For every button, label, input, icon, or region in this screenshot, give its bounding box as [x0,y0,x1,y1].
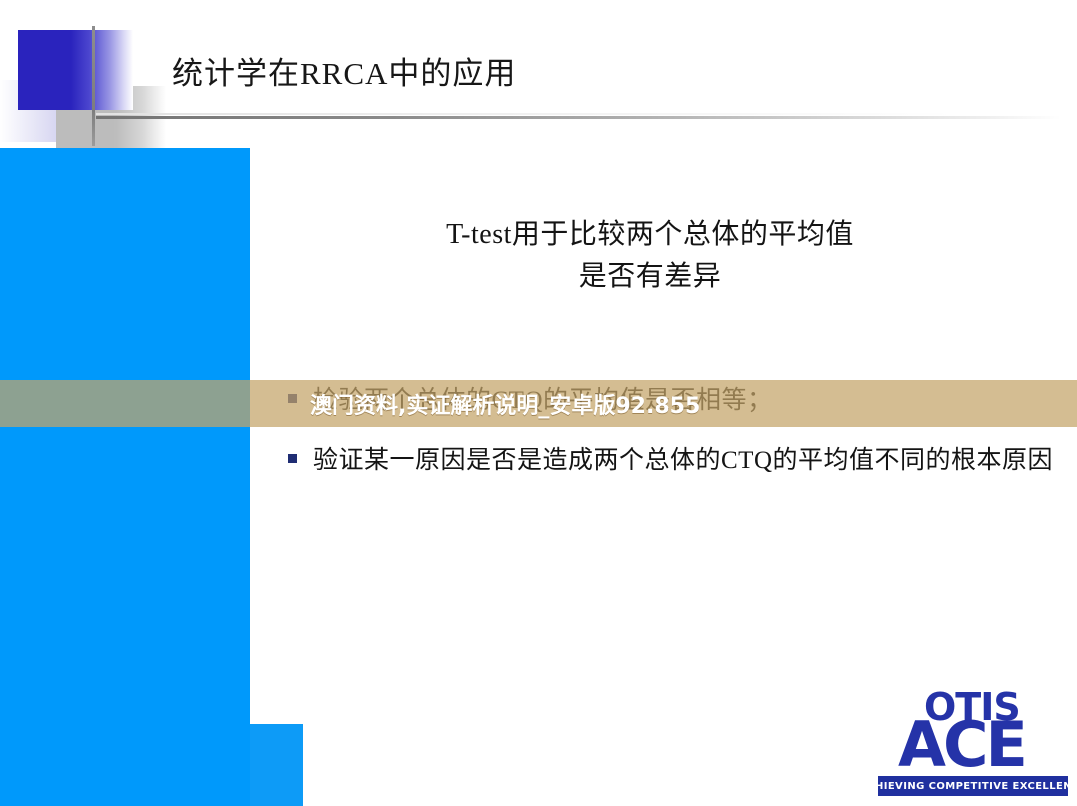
title-underline-soft [96,113,956,115]
sidebar-blue-panel-footer [250,724,303,806]
logo-ace-wordmark: ACE [898,714,1025,776]
decoration-blue-block [18,30,133,110]
lead-statement-line-2: 是否有差异 [300,256,1000,298]
decoration-lavender-block [0,80,98,142]
title-underline [96,116,1061,119]
list-item: 验证某一原因是否是造成两个总体的CTQ的平均值不同的根本原因 [288,438,1068,484]
slide-canvas: 统计学在RRCA中的应用 T-test用于比较两个总体的平均值 是否有差异 检验… [0,0,1077,806]
title-decoration-graphic [0,8,175,150]
lead-statement: T-test用于比较两个总体的平均值 是否有差异 [300,214,1000,298]
lead-statement-line-1: T-test用于比较两个总体的平均值 [446,219,854,250]
square-bullet-icon [288,454,297,463]
watermark-text: 澳门资料,实证解析说明_安卓版92.855 [310,380,700,427]
logo-tagline: ACHIEVING COMPETITIVE EXCELLENCE [878,776,1068,796]
list-item-text: 验证某一原因是否是造成两个总体的CTQ的平均值不同的根本原因 [313,438,1053,484]
brand-logo: OTIS ACE ACHIEVING COMPETITIVE EXCELLENC… [872,688,1072,800]
page-title: 统计学在RRCA中的应用 [172,48,516,93]
decoration-vertical-rule [92,26,95,146]
sidebar-blue-panel [0,148,250,806]
